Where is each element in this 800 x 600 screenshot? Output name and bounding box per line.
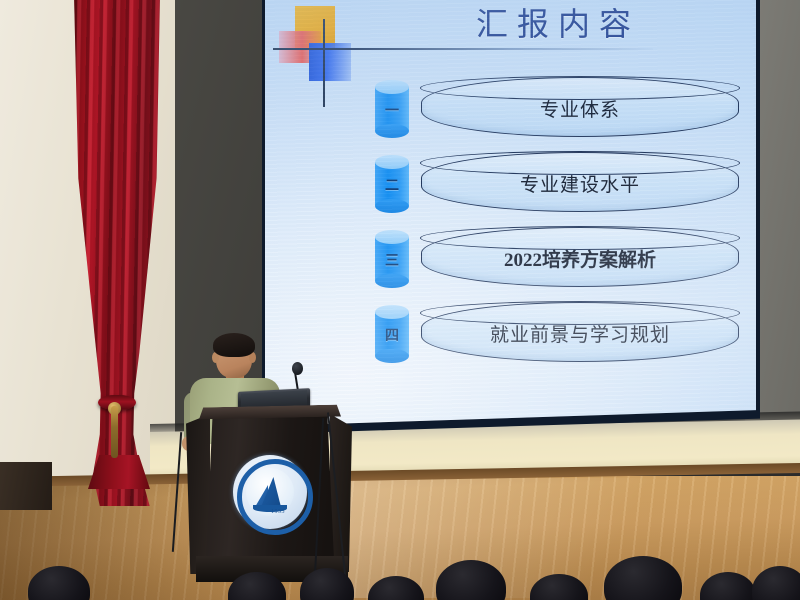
auditorium-scene: 汇报内容 一 专业体系 bbox=[0, 0, 800, 600]
presenter-hair bbox=[213, 333, 255, 357]
curtain-tassel bbox=[111, 406, 118, 458]
presentation-slide: 汇报内容 一 专业体系 bbox=[265, 0, 756, 426]
screen-glare bbox=[265, 0, 756, 426]
stage-speaker-box bbox=[0, 462, 52, 510]
emblem-year-label: 1953 bbox=[271, 509, 297, 515]
microphone-icon bbox=[292, 362, 303, 375]
university-emblem: 1953 bbox=[233, 455, 307, 529]
projection-screen: 汇报内容 一 专业体系 bbox=[265, 0, 756, 426]
